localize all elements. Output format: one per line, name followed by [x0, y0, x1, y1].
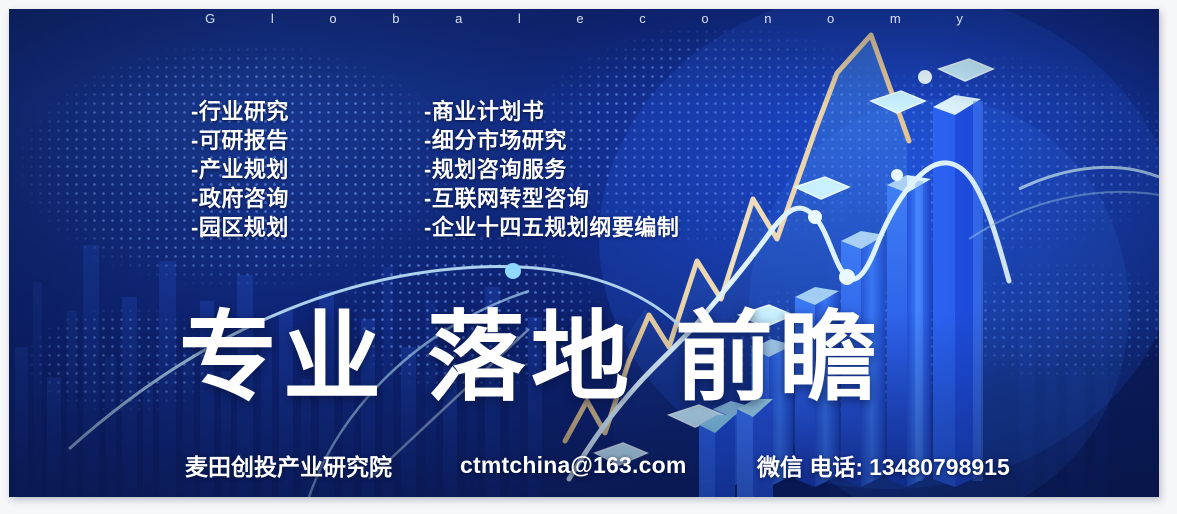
background-vignette: [9, 9, 1159, 497]
contact-email[interactable]: ctmtchina@163.com: [460, 452, 687, 479]
service-item: -企业十四五规划纲要编制: [424, 213, 679, 242]
service-item: -政府咨询: [191, 184, 289, 213]
footer-contact-bar: 麦田创投产业研究院 ctmtchina@163.com 微信 电话:134807…: [9, 447, 1159, 483]
service-item: -互联网转型咨询: [424, 184, 679, 213]
service-item: -细分市场研究: [424, 126, 679, 155]
service-item: -规划咨询服务: [424, 155, 679, 184]
service-list-right: -商业计划书 -细分市场研究 -规划咨询服务 -互联网转型咨询 -企业十四五规划…: [424, 97, 679, 242]
headline-word-3: 前瞻: [675, 305, 883, 409]
headline-word-2: 落地: [427, 305, 635, 409]
banner-root: G l o b a l e c o n o m y -行业研究 -可研报告 -产…: [0, 0, 1177, 514]
service-item: -园区规划: [191, 213, 289, 242]
headline-slogan: 专业落地前瞻: [179, 305, 1049, 409]
banner-canvas: G l o b a l e c o n o m y -行业研究 -可研报告 -产…: [9, 9, 1159, 497]
service-item: -可研报告: [191, 126, 289, 155]
contact-phone-number: 13480798915: [869, 454, 1010, 480]
company-name: 麦田创投产业研究院: [185, 448, 392, 482]
kicker-global-economy: G l o b a l e c o n o m y: [9, 11, 1159, 26]
headline-word-1: 专业: [179, 305, 387, 409]
service-list-left: -行业研究 -可研报告 -产业规划 -政府咨询 -园区规划: [191, 97, 289, 242]
contact-label: 微信 电话:: [757, 454, 863, 480]
service-item: -产业规划: [191, 155, 289, 184]
service-item: -商业计划书: [424, 97, 679, 126]
contact-phone-group: 微信 电话:13480798915: [757, 448, 1010, 482]
service-item: -行业研究: [191, 97, 289, 126]
